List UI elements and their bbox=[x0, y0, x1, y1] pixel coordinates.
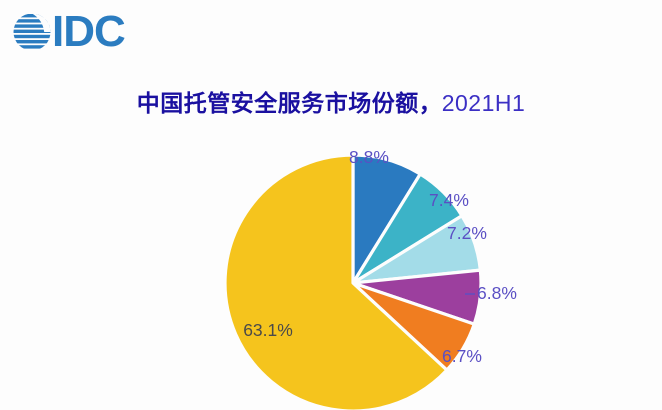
pie-slice-label: 6.8% bbox=[477, 283, 517, 303]
pie-slice-label: 8.8% bbox=[349, 147, 389, 167]
pie-slice-label: 6.7% bbox=[442, 346, 482, 366]
pie-chart: 8.8%7.4%7.2%6.8%6.7%63.1% bbox=[0, 0, 662, 410]
pie-slice-label: 7.2% bbox=[447, 223, 487, 243]
pie-slice-label: 7.4% bbox=[429, 190, 469, 210]
pie-slice-label: 63.1% bbox=[243, 320, 293, 340]
